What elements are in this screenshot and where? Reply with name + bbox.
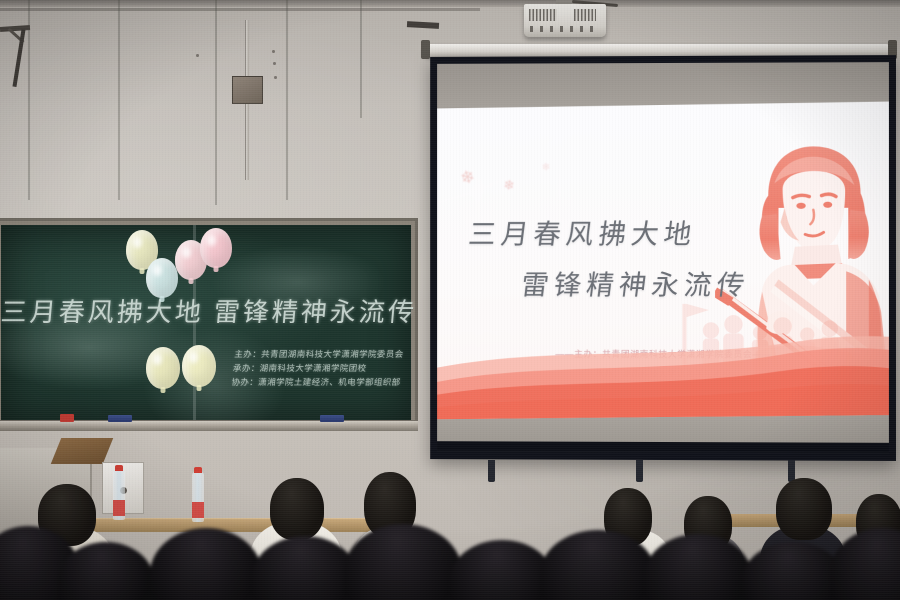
chalk-box[interactable] (60, 414, 74, 422)
screen-surface: ❄ ❄ ❄ (437, 62, 889, 452)
audience-area (0, 430, 900, 600)
projector-vent (529, 9, 557, 21)
student-head-foreground (252, 536, 358, 600)
wall-panel-seam (118, 0, 120, 200)
wall-junction-box (232, 76, 263, 104)
wall-screw (272, 50, 275, 53)
projector-vent (574, 9, 596, 21)
dove-icon: ❄ (503, 179, 516, 194)
chalk-headline-left: 三月春风拂大地 (0, 292, 206, 329)
chalk-credit-line: 承办：湖南科技大学潇湘学院团校 (232, 361, 413, 375)
student-head-foreground (450, 540, 554, 600)
balloon-cream-right (182, 345, 216, 387)
student-head-foreground (540, 530, 656, 600)
wall-bracket-left (0, 26, 30, 88)
slide-title-line-2: 雷锋精神永流传 (519, 263, 848, 303)
slide-title-line-1: 三月春风拂大地 (467, 212, 849, 252)
slide-title: 三月春风拂大地 雷锋精神永流传 (469, 212, 846, 303)
board-eraser[interactable] (320, 415, 344, 422)
balloon-light-blue (146, 258, 178, 298)
wall-panel-seam (286, 0, 288, 200)
screen-letterbox-top (437, 62, 889, 108)
student-head-foreground (644, 534, 752, 600)
ceiling-seam (0, 8, 480, 11)
chalk-credit-line: 主办：共青团湖南科技大学潇湘学院委员会 (234, 347, 415, 361)
ceiling-edge (0, 0, 900, 7)
classroom-scene: 三月春风拂大地 雷锋精神永流传 主办：共青团湖南科技大学潇湘学院委员会 承办：湖… (0, 0, 900, 600)
red-ribbon-waves (437, 326, 889, 419)
chalk-headline-right: 雷锋精神永流传 (212, 292, 418, 329)
student-head-foreground (742, 542, 844, 600)
wall-screw (196, 54, 199, 57)
projection-screen[interactable]: ❄ ❄ ❄ (430, 55, 896, 461)
lectern-top (51, 438, 114, 464)
screen-case-end (421, 40, 430, 59)
wall-panel-seam (360, 0, 362, 118)
wall-panel-seam (215, 0, 217, 205)
chalkboard-headline: 三月春风拂大地 雷锋精神永流传 (0, 287, 419, 333)
ceiling-projector (524, 4, 606, 37)
chalkboard-credits: 主办：共青团湖南科技大学潇湘学院委员会 承办：湖南科技大学潇湘学院团校 协办：潇… (231, 347, 415, 389)
bottle-cap (115, 465, 123, 471)
peace-doves-decoration: ❄ ❄ ❄ (455, 159, 587, 204)
foreground-audience-row (0, 504, 900, 600)
presentation-slide: ❄ ❄ ❄ (437, 102, 889, 420)
wall-screw (273, 62, 276, 65)
projector-ports (530, 26, 600, 32)
student-head-foreground (344, 524, 462, 600)
dove-icon: ❄ (542, 163, 551, 174)
wall-screw (274, 76, 277, 79)
bottle-cap (194, 467, 202, 473)
chalk-credit-line: 协办：潇湘学院土建经济、机电学部组织部 (231, 375, 412, 389)
balloon-rose (200, 228, 232, 268)
student-head-foreground (150, 528, 262, 600)
dove-icon: ❄ (459, 168, 478, 189)
student-head-foreground (830, 528, 900, 600)
board-eraser[interactable] (108, 415, 132, 422)
balloon-cream-left (146, 347, 180, 389)
